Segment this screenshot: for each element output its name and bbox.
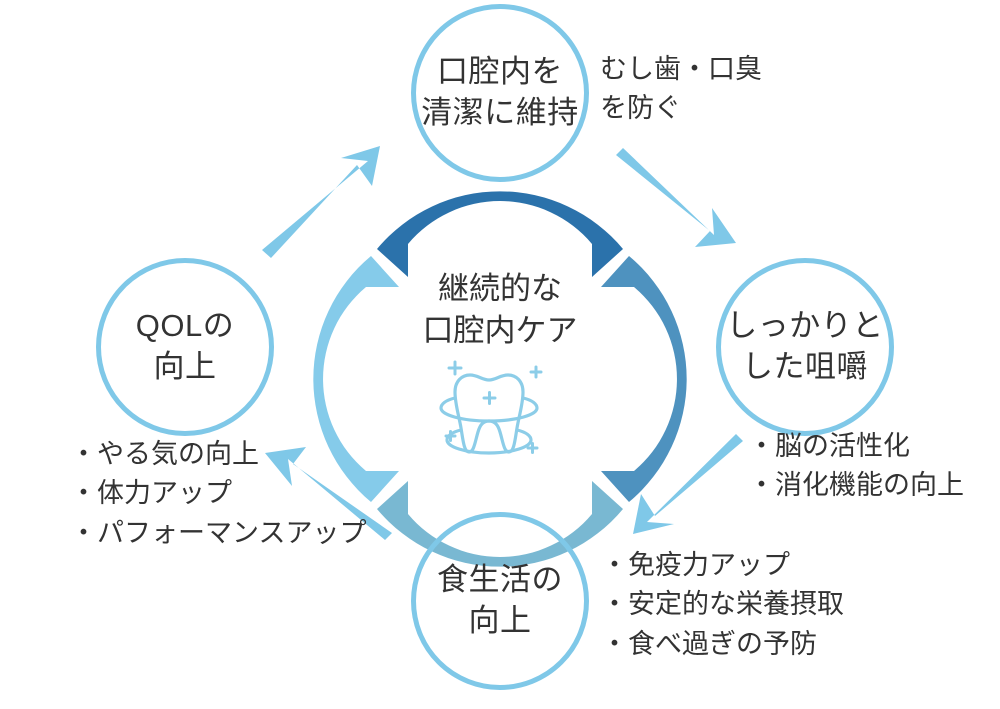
arrow-right-to-bottom bbox=[633, 434, 743, 534]
diagram-canvas: 継続的な 口腔内ケア 口腔内を 清潔に維持 しっかりと した咀嚼 食生活の 向上… bbox=[0, 0, 1000, 709]
node-dietary-improvement-label: 食生活の 向上 bbox=[437, 560, 563, 642]
node-thorough-chewing[interactable]: しっかりと した咀嚼 bbox=[716, 258, 894, 436]
description-dietary-improvement: ・免疫力アップ ・安定的な栄養摂取 ・食べ過ぎの予防 bbox=[601, 546, 931, 664]
node-oral-cleanliness-label: 口腔内を 清潔に維持 bbox=[421, 52, 579, 134]
arrow-left-to-top bbox=[262, 146, 380, 258]
arrow-top-to-right bbox=[616, 148, 736, 247]
node-qol-improvement-label: QOLの 向上 bbox=[136, 306, 234, 388]
node-qol-improvement[interactable]: QOLの 向上 bbox=[96, 258, 274, 436]
center-label: 継続的な 口腔内ケア bbox=[370, 268, 630, 351]
node-oral-cleanliness[interactable]: 口腔内を 清潔に維持 bbox=[411, 4, 589, 182]
cycle-top-segment bbox=[377, 191, 623, 277]
node-dietary-improvement[interactable]: 食生活の 向上 bbox=[411, 512, 589, 690]
description-qol-improvement: ・やる気の向上 ・体力アップ ・パフォーマンスアップ bbox=[70, 435, 400, 553]
sparkling-tooth-icon bbox=[441, 362, 541, 453]
description-oral-cleanliness: むし歯・口臭 を防ぐ bbox=[600, 50, 820, 129]
node-thorough-chewing-label: しっかりと した咀嚼 bbox=[726, 306, 884, 388]
description-thorough-chewing: ・脳の活性化 ・消化機能の向上 bbox=[748, 427, 998, 506]
